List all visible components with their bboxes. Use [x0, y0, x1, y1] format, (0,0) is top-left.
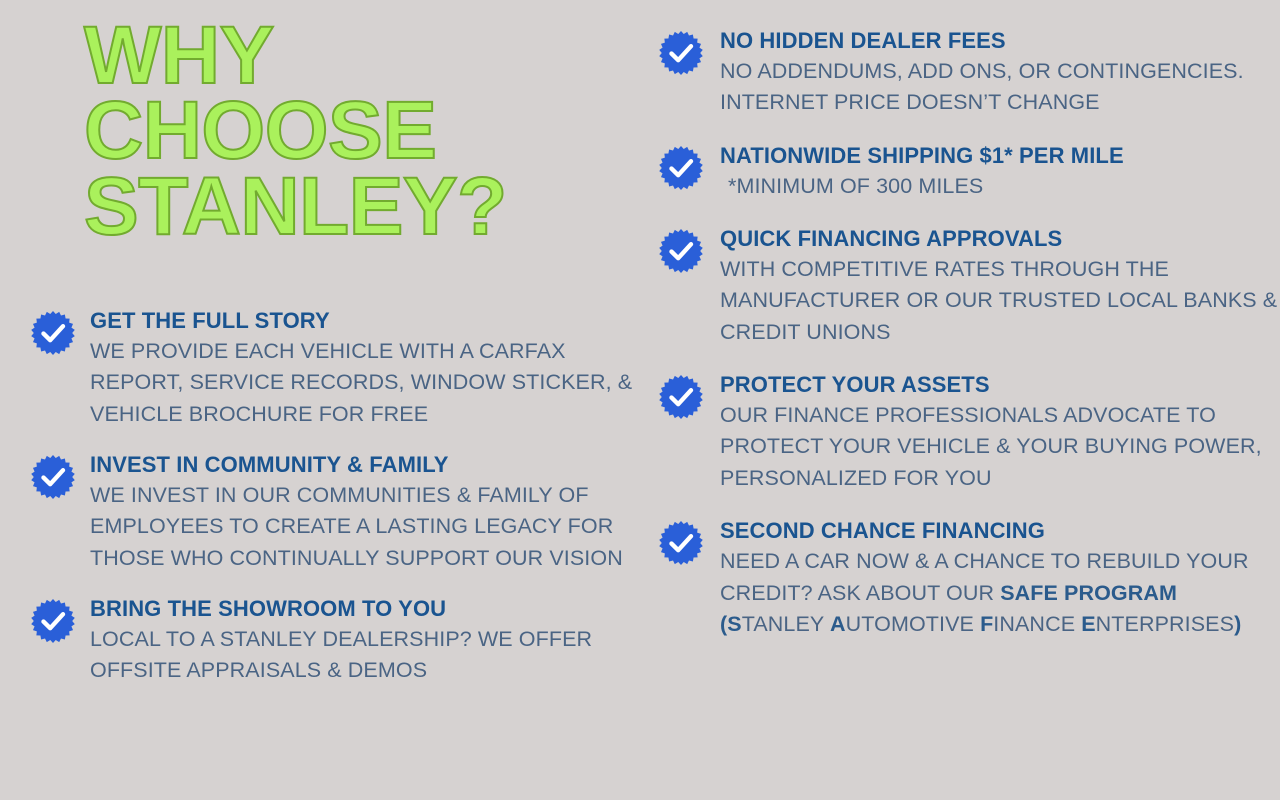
feature-item: SECOND CHANCE FINANCINGNEED A CAR NOW & … [640, 518, 1280, 640]
feature-body: NO ADDENDUMS, ADD ONS, OR CONTINGENCIES.… [720, 56, 1280, 119]
feature-title: QUICK FINANCING APPROVALS [720, 226, 1280, 252]
check-badge-icon [658, 145, 704, 191]
feature-body: *MINIMUM OF 300 MILES [720, 171, 1280, 202]
feature-title: SECOND CHANCE FINANCING [720, 518, 1280, 544]
feature-item: NO HIDDEN DEALER FEESNO ADDENDUMS, ADD O… [640, 28, 1280, 119]
check-badge-icon [658, 374, 704, 420]
check-badge-icon [658, 30, 704, 76]
feature-body: WITH COMPETITIVE RATES THROUGH THE MANUF… [720, 254, 1280, 348]
feature-title: NATIONWIDE SHIPPING $1* PER MILE [720, 143, 1280, 169]
right-feature-list: NO HIDDEN DEALER FEESNO ADDENDUMS, ADD O… [640, 28, 1280, 664]
right-column: NO HIDDEN DEALER FEESNO ADDENDUMS, ADD O… [640, 0, 1280, 800]
feature-item: INVEST IN COMMUNITY & FAMILYWE INVEST IN… [0, 452, 640, 574]
check-badge-icon [30, 310, 76, 356]
feature-title: INVEST IN COMMUNITY & FAMILY [90, 452, 640, 478]
check-badge-icon [30, 598, 76, 644]
feature-body: WE INVEST IN OUR COMMUNITIES & FAMILY OF… [90, 480, 640, 574]
feature-item: PROTECT YOUR ASSETSOUR FINANCE PROFESSIO… [640, 372, 1280, 494]
feature-body: WE PROVIDE EACH VEHICLE WITH A CARFAX RE… [90, 336, 640, 430]
feature-body: NEED A CAR NOW & A CHANCE TO REBUILD YOU… [720, 546, 1280, 640]
feature-title: BRING THE SHOWROOM TO YOU [90, 596, 640, 622]
feature-item: NATIONWIDE SHIPPING $1* PER MILE*MINIMUM… [640, 143, 1280, 202]
check-badge-icon [30, 454, 76, 500]
left-feature-list: GET THE FULL STORYWE PROVIDE EACH VEHICL… [0, 308, 640, 709]
feature-item: GET THE FULL STORYWE PROVIDE EACH VEHICL… [0, 308, 640, 430]
poster-root: WHY CHOOSE STANLEY? GET THE FULL STORYWE… [0, 0, 1280, 800]
feature-title: NO HIDDEN DEALER FEES [720, 28, 1280, 54]
feature-body: LOCAL TO A STANLEY DEALERSHIP? WE OFFER … [90, 624, 640, 687]
feature-title: PROTECT YOUR ASSETS [720, 372, 1280, 398]
left-column: WHY CHOOSE STANLEY? GET THE FULL STORYWE… [0, 0, 640, 800]
check-badge-icon [658, 228, 704, 274]
feature-item: QUICK FINANCING APPROVALSWITH COMPETITIV… [640, 226, 1280, 348]
feature-body: OUR FINANCE PROFESSIONALS ADVOCATE TO PR… [720, 400, 1280, 494]
feature-item: BRING THE SHOWROOM TO YOULOCAL TO A STAN… [0, 596, 640, 687]
page-title: WHY CHOOSE STANLEY? [84, 18, 604, 244]
feature-title: GET THE FULL STORY [90, 308, 640, 334]
check-badge-icon [658, 520, 704, 566]
